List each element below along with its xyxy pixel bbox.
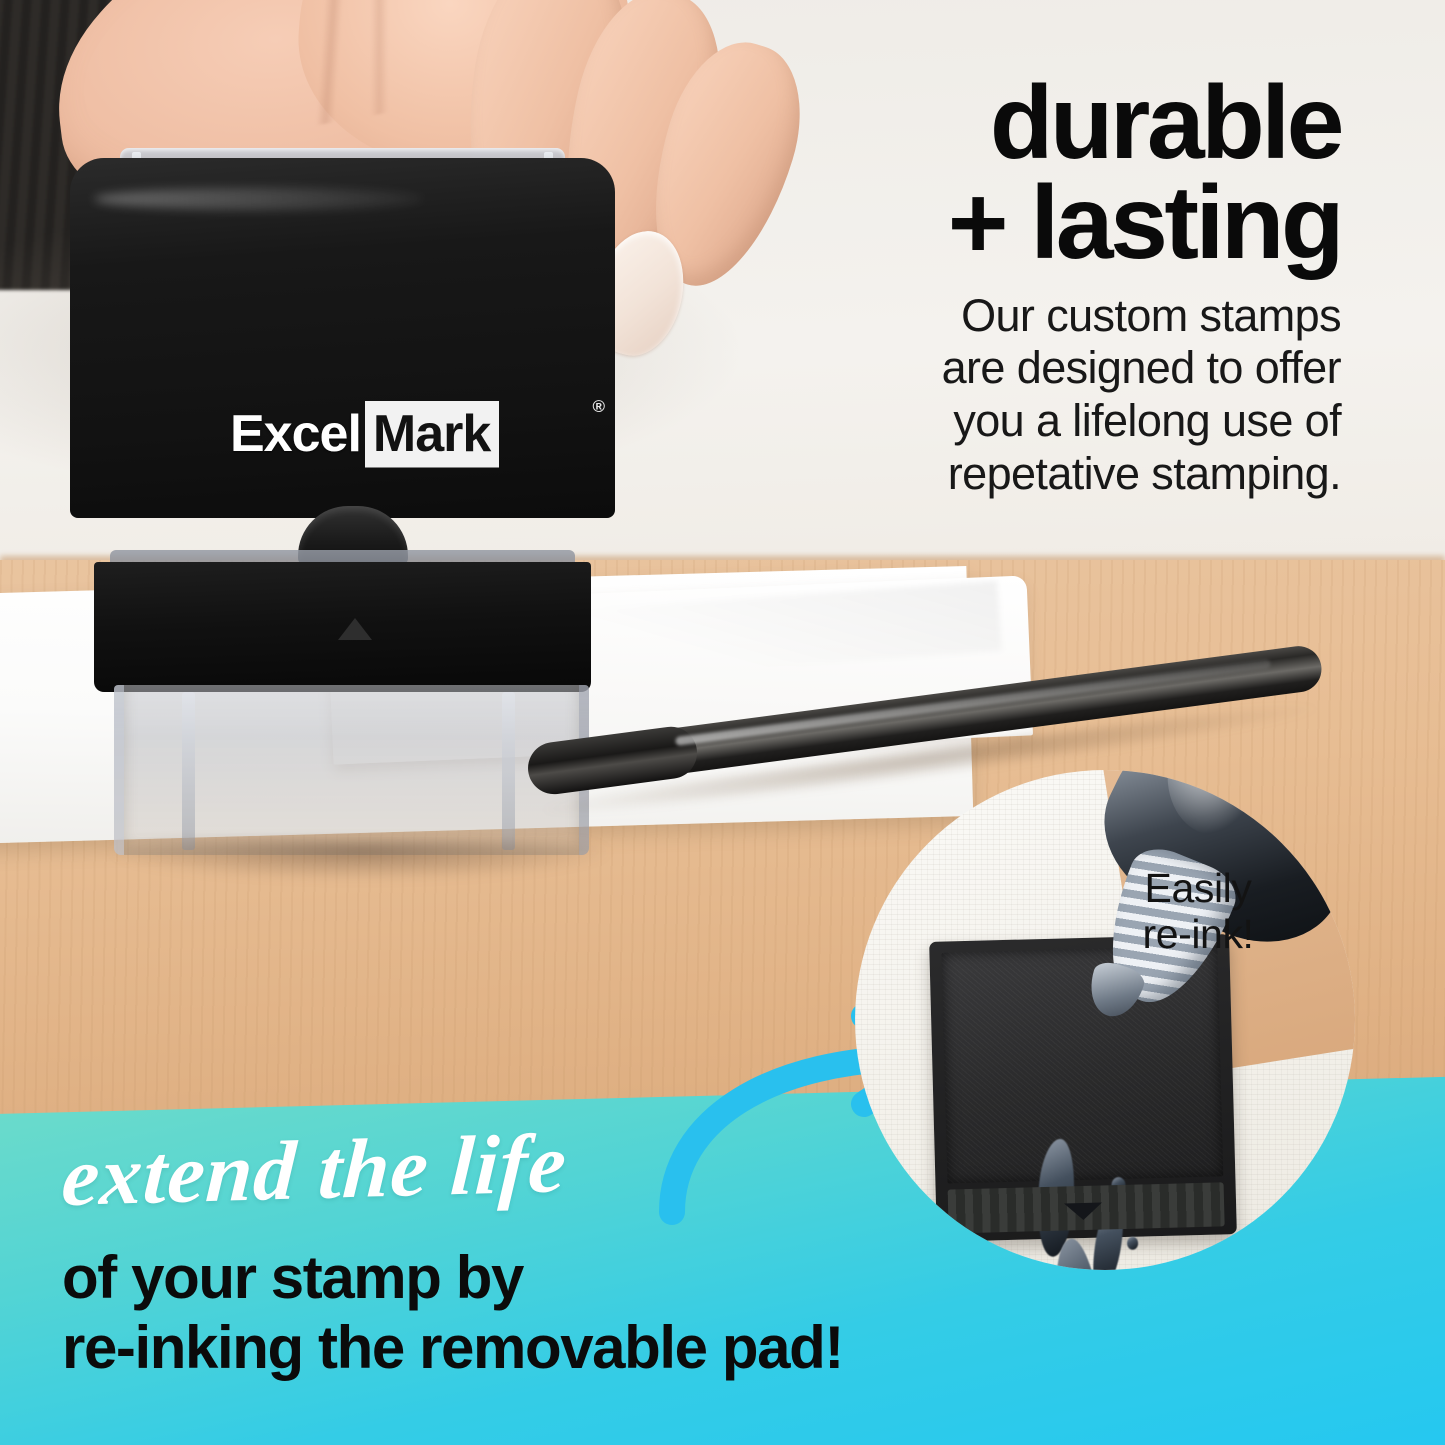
stamp-post-left (182, 692, 195, 850)
logo-mark-text: Mark (373, 405, 490, 463)
banner-bold-line-2: re-inking the removable pad! (62, 1313, 843, 1383)
page-title: durable + lasting (741, 74, 1341, 274)
ink-pad-chevron-icon (1064, 1203, 1102, 1221)
marketing-copy-block: durable + lasting Our custom stamps are … (741, 74, 1341, 500)
body-copy-line-4: repetative stamping. (741, 448, 1341, 501)
body-copy-line-1: Our custom stamps (741, 290, 1341, 343)
re-ink-circle-inset: Easily re-ink! (855, 770, 1355, 1270)
stamp-drop-shadow (110, 840, 610, 880)
logo-mark-box: Mark (365, 401, 499, 468)
banner-script-text: extend the life (60, 1122, 570, 1220)
body-copy-line-2: are designed to offer (741, 342, 1341, 395)
body-copy: Our custom stamps are designed to offer … (741, 290, 1341, 501)
stamp-gloss-highlight (94, 188, 424, 210)
banner-bold-text: of your stamp by re-inking the removable… (62, 1243, 843, 1383)
inset-callout-label: Easily re-ink! (1083, 866, 1313, 958)
logo-excel-text: Excel (230, 404, 361, 464)
registered-trademark-icon: ® (592, 397, 605, 417)
stamp-post-right (502, 692, 515, 850)
headline-line-2: + lasting (741, 174, 1341, 274)
inset-callout-line-1: Easily (1083, 866, 1313, 912)
body-copy-line-3: you a lifelong use of (741, 395, 1341, 448)
stamp-up-arrow-icon (338, 618, 372, 640)
headline-line-1: durable (990, 65, 1341, 181)
banner-bold-line-1: of your stamp by (62, 1243, 843, 1313)
excelmark-logo: Excel Mark ® (230, 395, 585, 473)
inset-callout-line-2: re-ink! (1083, 912, 1313, 958)
self-inking-stamp: Excel Mark ® (70, 140, 615, 750)
product-marketing-image: Excel Mark ® durable + lasting Our custo… (0, 0, 1445, 1445)
